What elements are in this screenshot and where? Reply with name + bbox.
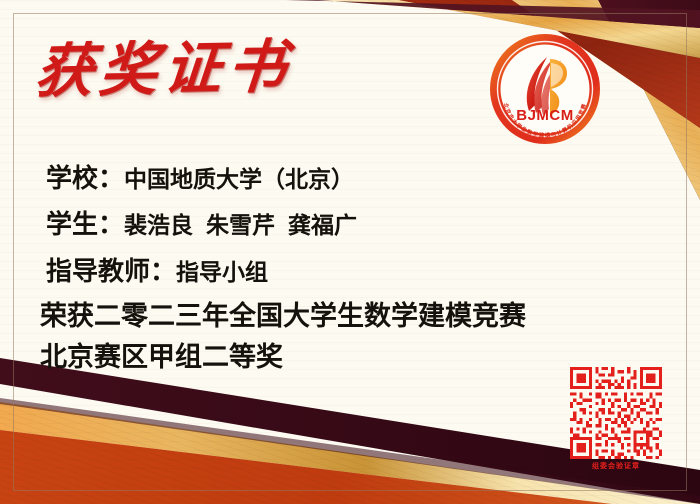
student-name-3: 龚福广: [288, 213, 357, 238]
school-label: 学校：: [46, 164, 124, 193]
award-text-line-1: 荣获二零二三年全国大学生数学建模竞赛: [40, 294, 680, 333]
field-school: 学校：中国地质大学（北京）: [40, 158, 680, 195]
certificate-title: 获奖证书: [32, 19, 296, 108]
advisor-value: 指导小组: [176, 260, 268, 285]
advisor-label: 指导教师：: [46, 257, 176, 286]
student-name-1: 裴浩良: [124, 213, 193, 238]
field-advisor: 指导教师：指导小组: [40, 251, 680, 288]
emblem-acronym: BJMCM: [516, 107, 574, 124]
certificate-body: 学校：中国地质大学（北京） 学生：裴浩良朱雪芹龚福广 指导教师：指导小组 荣获二…: [40, 158, 680, 374]
student-label: 学生：: [46, 210, 124, 239]
stamp-caption: 组委会验证章: [570, 461, 662, 471]
student-name-2: 朱雪芹: [206, 213, 275, 238]
award-certificate: 获奖证书: [0, 0, 700, 504]
school-value: 中国地质大学（北京）: [124, 167, 354, 192]
bjmcm-emblem-logo: BJMCM 北京市大学生数学建模与计算机应用竞赛: [489, 33, 601, 145]
verification-stamp: 组委会验证章: [570, 367, 662, 471]
qr-code-icon[interactable]: [570, 367, 662, 459]
field-students: 学生：裴浩良朱雪芹龚福广: [40, 204, 680, 241]
